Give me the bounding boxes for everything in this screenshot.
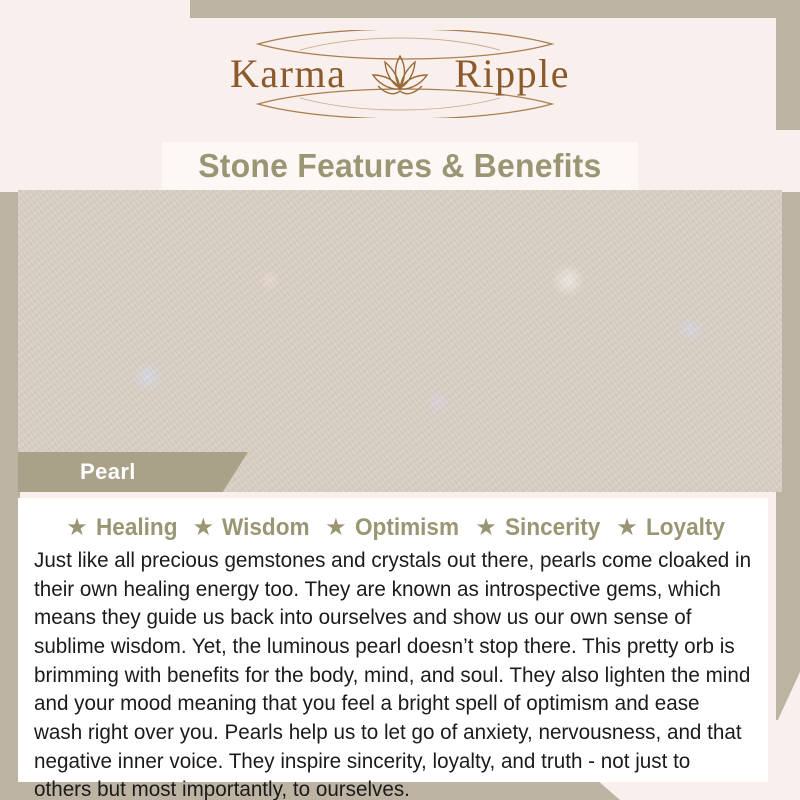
- benefit-item-optimism: ★ Optimism: [315, 514, 465, 542]
- benefit-label-sincerity: Sincerity: [505, 514, 600, 542]
- heading-plate: Stone Features & Benefits: [162, 142, 638, 190]
- star-icon: ★: [616, 516, 638, 540]
- benefit-label-loyalty: Loyalty: [646, 514, 725, 542]
- stone-description: Just like all precious gemstones and cry…: [34, 546, 751, 800]
- benefit-item-healing: ★ Healing: [56, 514, 182, 542]
- infographic-card: KarmaRipple Stone Features & Benefits: [0, 0, 800, 800]
- stone-name-banner: Pearl: [18, 452, 248, 492]
- benefit-item-wisdom: ★ Wisdom: [182, 514, 315, 542]
- stone-name-label: Pearl: [80, 459, 136, 485]
- lotus-icon: [364, 48, 436, 100]
- benefit-label-wisdom: Wisdom: [222, 514, 310, 542]
- benefit-item-sincerity: ★ Sincerity: [465, 514, 606, 542]
- frame-top-left-cutout: [0, 0, 190, 19]
- benefit-item-loyalty: ★ Loyalty: [606, 514, 730, 542]
- frame-left-border: [0, 188, 20, 800]
- star-icon: ★: [325, 516, 347, 540]
- pearl-photo: [18, 190, 782, 492]
- star-icon: ★: [192, 516, 214, 540]
- brand-word-karma: Karma: [230, 51, 346, 96]
- benefit-label-optimism: Optimism: [355, 514, 459, 542]
- brand-logo: KarmaRipple: [0, 28, 800, 120]
- brand-word-ripple: Ripple: [454, 51, 570, 96]
- star-icon: ★: [475, 516, 497, 540]
- content-panel: ★ Healing ★ Wisdom ★ Optimism ★ Sincerit…: [18, 498, 768, 782]
- photo-texture-layer: [18, 190, 782, 492]
- benefits-list: ★ Healing ★ Wisdom ★ Optimism ★ Sincerit…: [34, 514, 752, 542]
- benefit-label-healing: Healing: [96, 514, 177, 542]
- page-title: Stone Features & Benefits: [198, 147, 601, 185]
- star-icon: ★: [66, 516, 88, 540]
